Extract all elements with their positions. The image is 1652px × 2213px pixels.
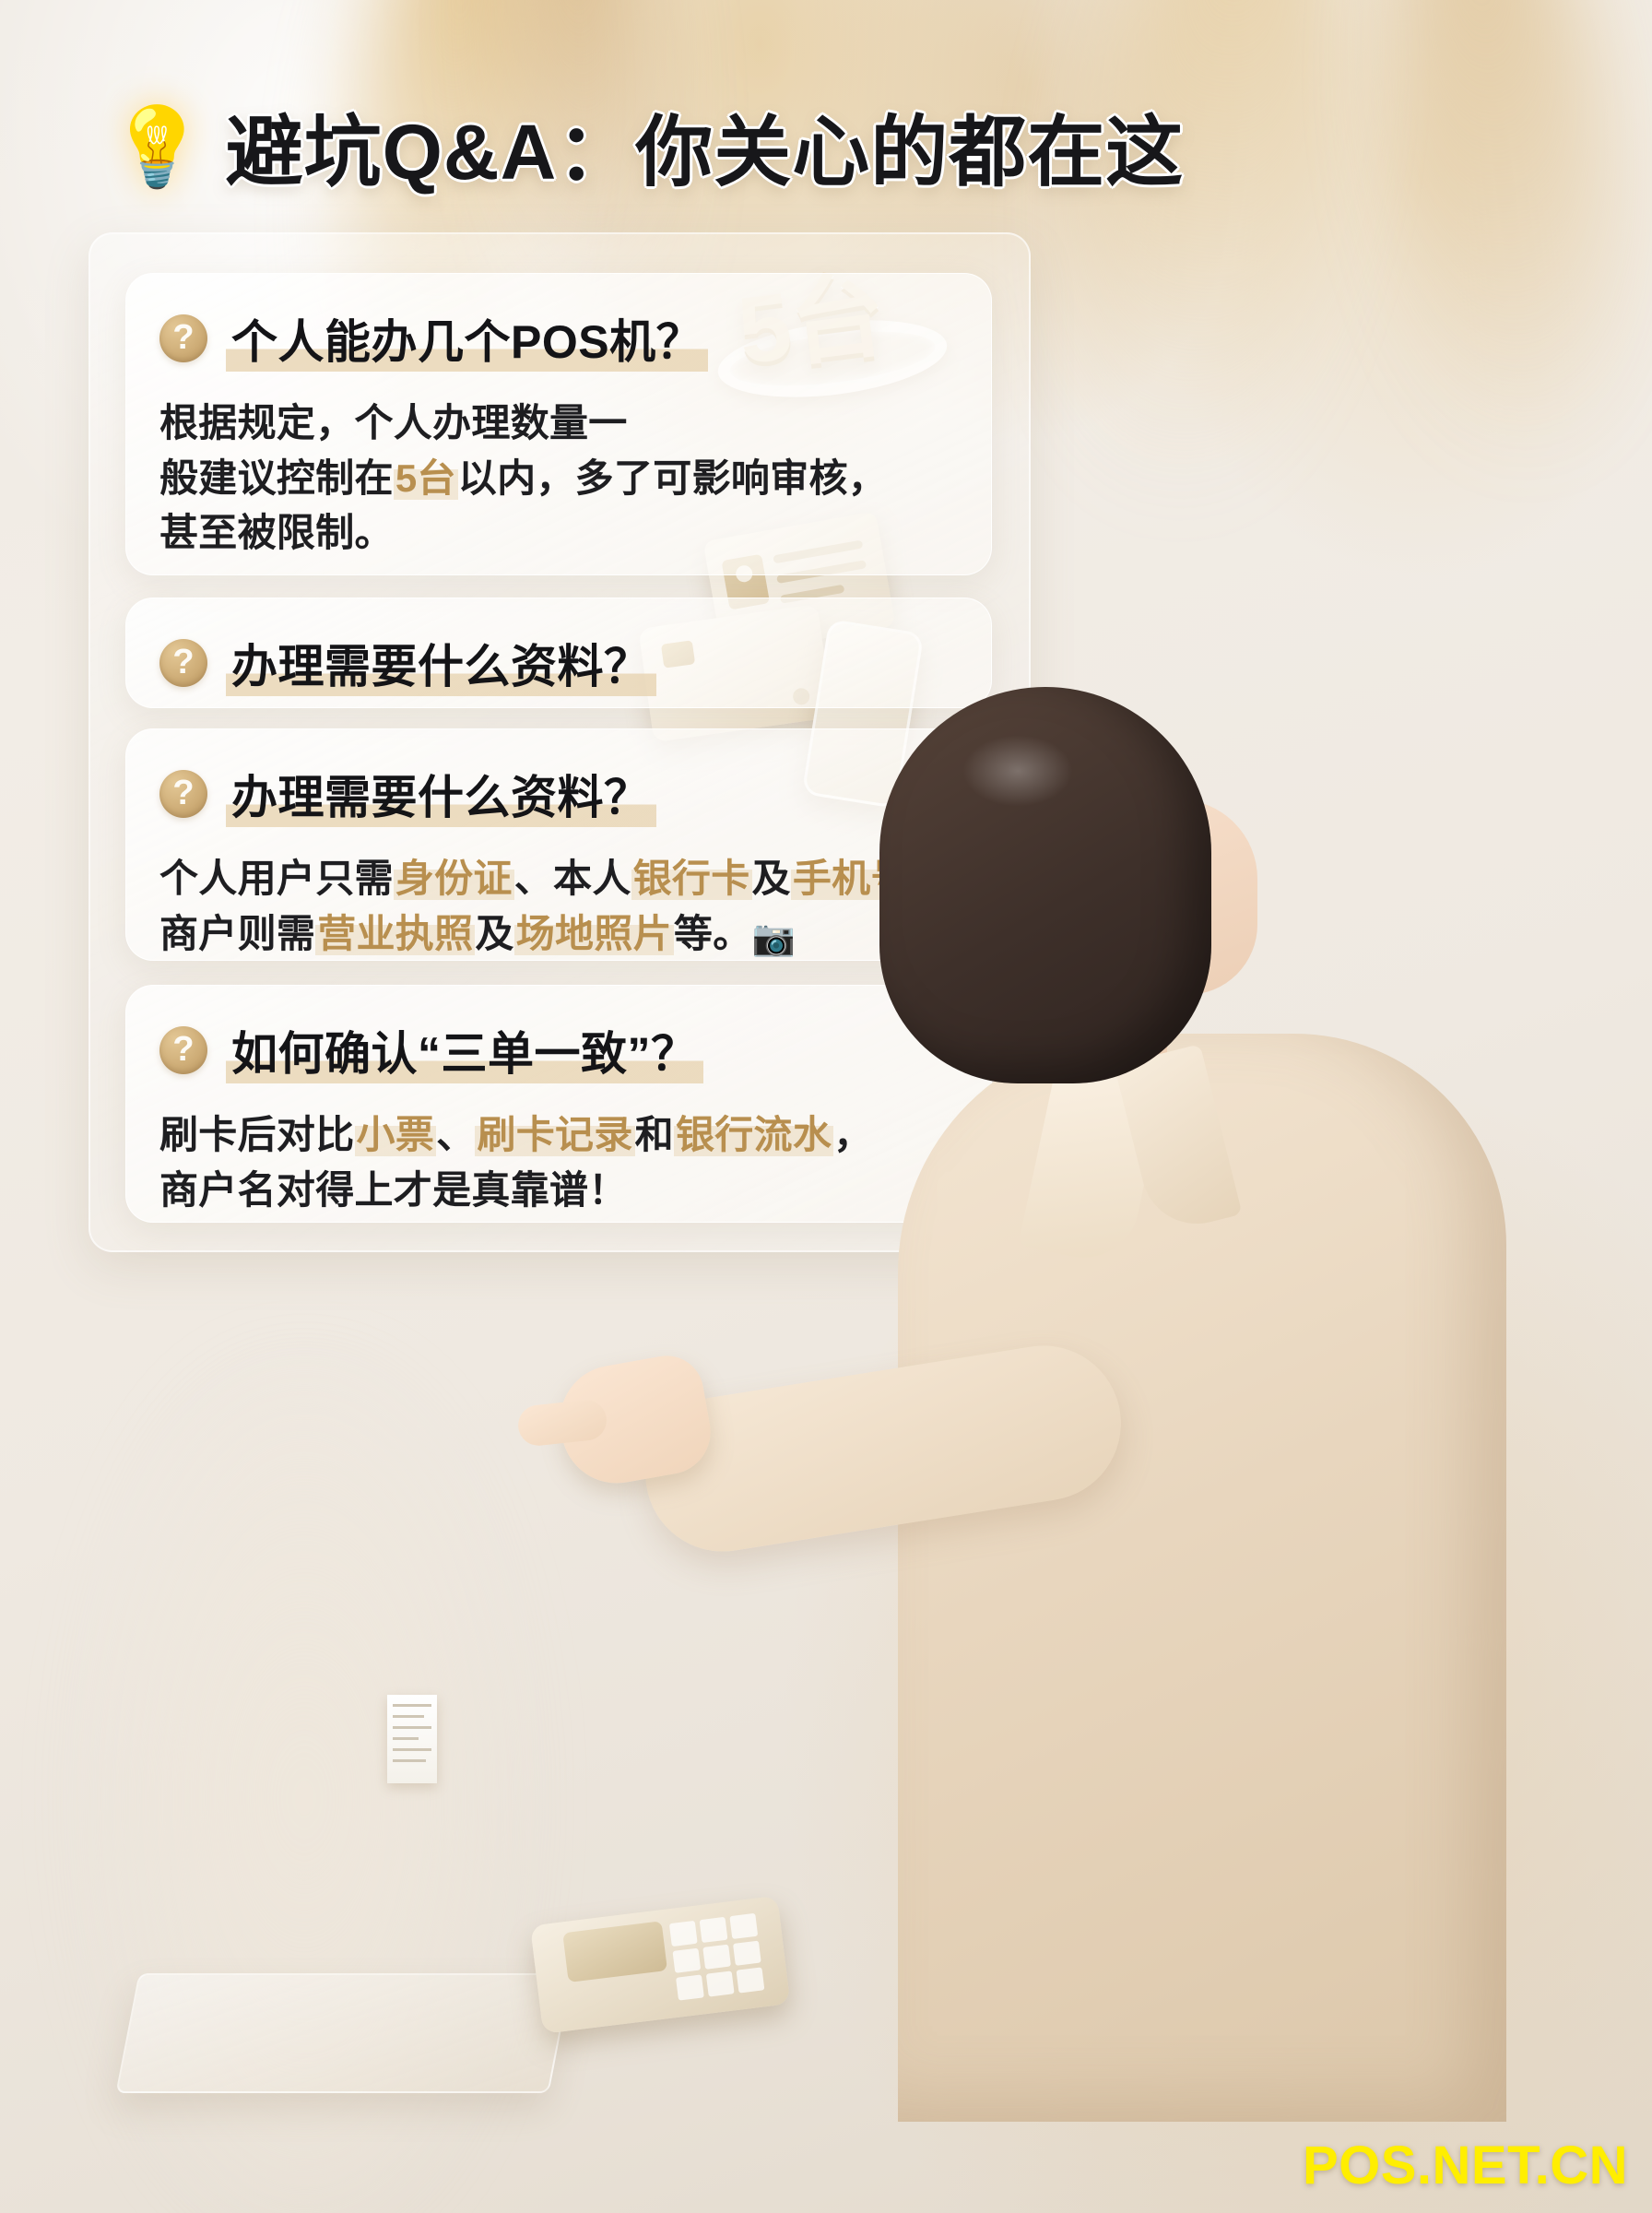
qa-body-line: 般建议控制在5台以内，多了可影响审核， — [159, 451, 952, 506]
qa-body-segment: 个人用户只需 — [159, 857, 394, 900]
pos-terminal-body — [530, 1896, 790, 2034]
qa-body-segment: 及 — [475, 912, 513, 955]
qa-card[interactable]: ? 如何确认“三单一致”？ 刷卡后对比小票、刷卡记录和银行流水， 商户名对得上才… — [125, 985, 992, 1223]
qa-body-line: 甚至被限制。 — [159, 505, 952, 561]
qa-card[interactable]: ? 办理需要什么资料？ — [125, 598, 992, 708]
qa-highlight-segment: 小票 — [355, 1113, 437, 1156]
qa-body-segment: 等。 — [674, 912, 752, 955]
character-pointing-finger — [516, 1398, 608, 1448]
receipt-icon — [387, 1695, 437, 1783]
qa-body-segment: ， — [833, 1113, 872, 1156]
qa-card-body: 个人用户只需身份证、本人银行卡及手机号； 商户则需营业执照及场地照片等。📷 — [159, 851, 952, 964]
qa-highlight-segment: 银行卡 — [631, 857, 752, 900]
qa-question-text: 办理需要什么资料？ — [226, 630, 656, 696]
qa-card[interactable]: ? 办理需要什么资料？ 个人用户只需身份证、本人银行卡及手机号； 商户则需营业执… — [125, 728, 992, 961]
glass-stand — [115, 1973, 572, 2093]
qa-highlight-segment: 手机号 — [791, 857, 912, 900]
qa-body-line: 根据规定，个人办理数量一 — [159, 396, 952, 451]
qa-body-segment: 商户则需 — [159, 912, 315, 955]
qa-card-body: 刷卡后对比小票、刷卡记录和银行流水， 商户名对得上才是真靠谱！ — [159, 1107, 952, 1217]
qa-highlight-segment: 营业执照 — [315, 912, 475, 955]
qa-highlight-segment: 身份证 — [394, 857, 514, 900]
qa-body-line: 商户则需营业执照及场地照片等。📷 — [159, 906, 952, 964]
qa-body-segment: 、本人 — [514, 857, 631, 900]
page-title: 避坑Q&A：你关心的都在这 — [226, 90, 1185, 202]
question-badge-icon: ? — [159, 314, 207, 362]
qa-body-segment: 及 — [752, 857, 791, 900]
background-light-streak — [1044, 0, 1372, 512]
qa-body-segment: 刷卡后对比 — [159, 1113, 355, 1156]
qa-body-line: 商户名对得上才是真靠谱！ — [159, 1163, 952, 1218]
qa-body-segment: 和 — [635, 1113, 674, 1156]
qa-card-body: 根据规定，个人办理数量一 般建议控制在5台以内，多了可影响审核， 甚至被限制。 — [159, 396, 952, 561]
qa-highlight-segment: 银行流水 — [674, 1113, 833, 1156]
background-light-streak — [1366, 0, 1639, 471]
qa-card-header: ? 办理需要什么资料？ — [159, 630, 952, 696]
character-hand — [551, 1350, 717, 1492]
qa-highlight-segment: 场地照片 — [514, 912, 674, 955]
character-arm — [634, 1334, 1132, 1562]
pos-terminal-icon — [525, 1855, 820, 2053]
qa-question-text: 个人能办几个POS机？ — [226, 305, 708, 372]
qa-body-line: 个人用户只需身份证、本人银行卡及手机号； — [159, 851, 952, 906]
camera-icon: 📷 — [752, 919, 796, 958]
qa-body-segment: 根据规定，个人办理数量一 — [159, 401, 628, 444]
character-collar-right — [1114, 1044, 1242, 1236]
character-face — [1099, 799, 1257, 995]
question-badge-icon: ? — [159, 770, 207, 818]
qa-body-segment: ； — [912, 857, 950, 900]
qa-body-segment: 般建议控制在 — [159, 456, 394, 500]
watermark: POS.NET.CN — [1303, 2135, 1628, 2196]
question-badge-icon: ? — [159, 1026, 207, 1074]
qa-question-text: 办理需要什么资料？ — [226, 761, 656, 827]
question-badge-icon: ? — [159, 639, 207, 687]
pos-terminal-screen — [562, 1921, 667, 1982]
qa-highlight-segment: 刷卡记录 — [475, 1113, 634, 1156]
qa-body-segment: 、 — [436, 1113, 475, 1156]
pos-terminal-keypad — [669, 1913, 765, 2001]
poster-root: 💡 避坑Q&A：你关心的都在这 5台 ? 个人能办几个POS机？ 根据规定，个人… — [0, 0, 1652, 2213]
qa-card-header: ? 办理需要什么资料？ — [159, 761, 952, 827]
qa-card[interactable]: ? 个人能办几个POS机？ 根据规定，个人办理数量一 般建议控制在5台以内，多了… — [125, 273, 992, 575]
qa-body-segment: 商户名对得上才是真靠谱！ — [159, 1168, 628, 1212]
lightbulb-icon: 💡 — [109, 108, 206, 185]
qa-highlight-segment: 5台 — [394, 456, 458, 500]
qa-card-header: ? 如何确认“三单一致”？ — [159, 1017, 952, 1083]
page-header: 💡 避坑Q&A：你关心的都在这 — [109, 90, 1184, 202]
qa-body-line: 刷卡后对比小票、刷卡记录和银行流水， — [159, 1107, 952, 1163]
qa-card-header: ? 个人能办几个POS机？ — [159, 305, 952, 372]
character-ear — [1088, 908, 1123, 953]
character-neck — [1056, 1002, 1167, 1085]
qa-body-segment: 甚至被限制。 — [159, 511, 394, 554]
qa-question-text: 如何确认“三单一致”？ — [226, 1017, 703, 1083]
qa-body-segment: 以内，多了可影响审核， — [458, 456, 887, 500]
character-collar-left — [1018, 1047, 1168, 1268]
